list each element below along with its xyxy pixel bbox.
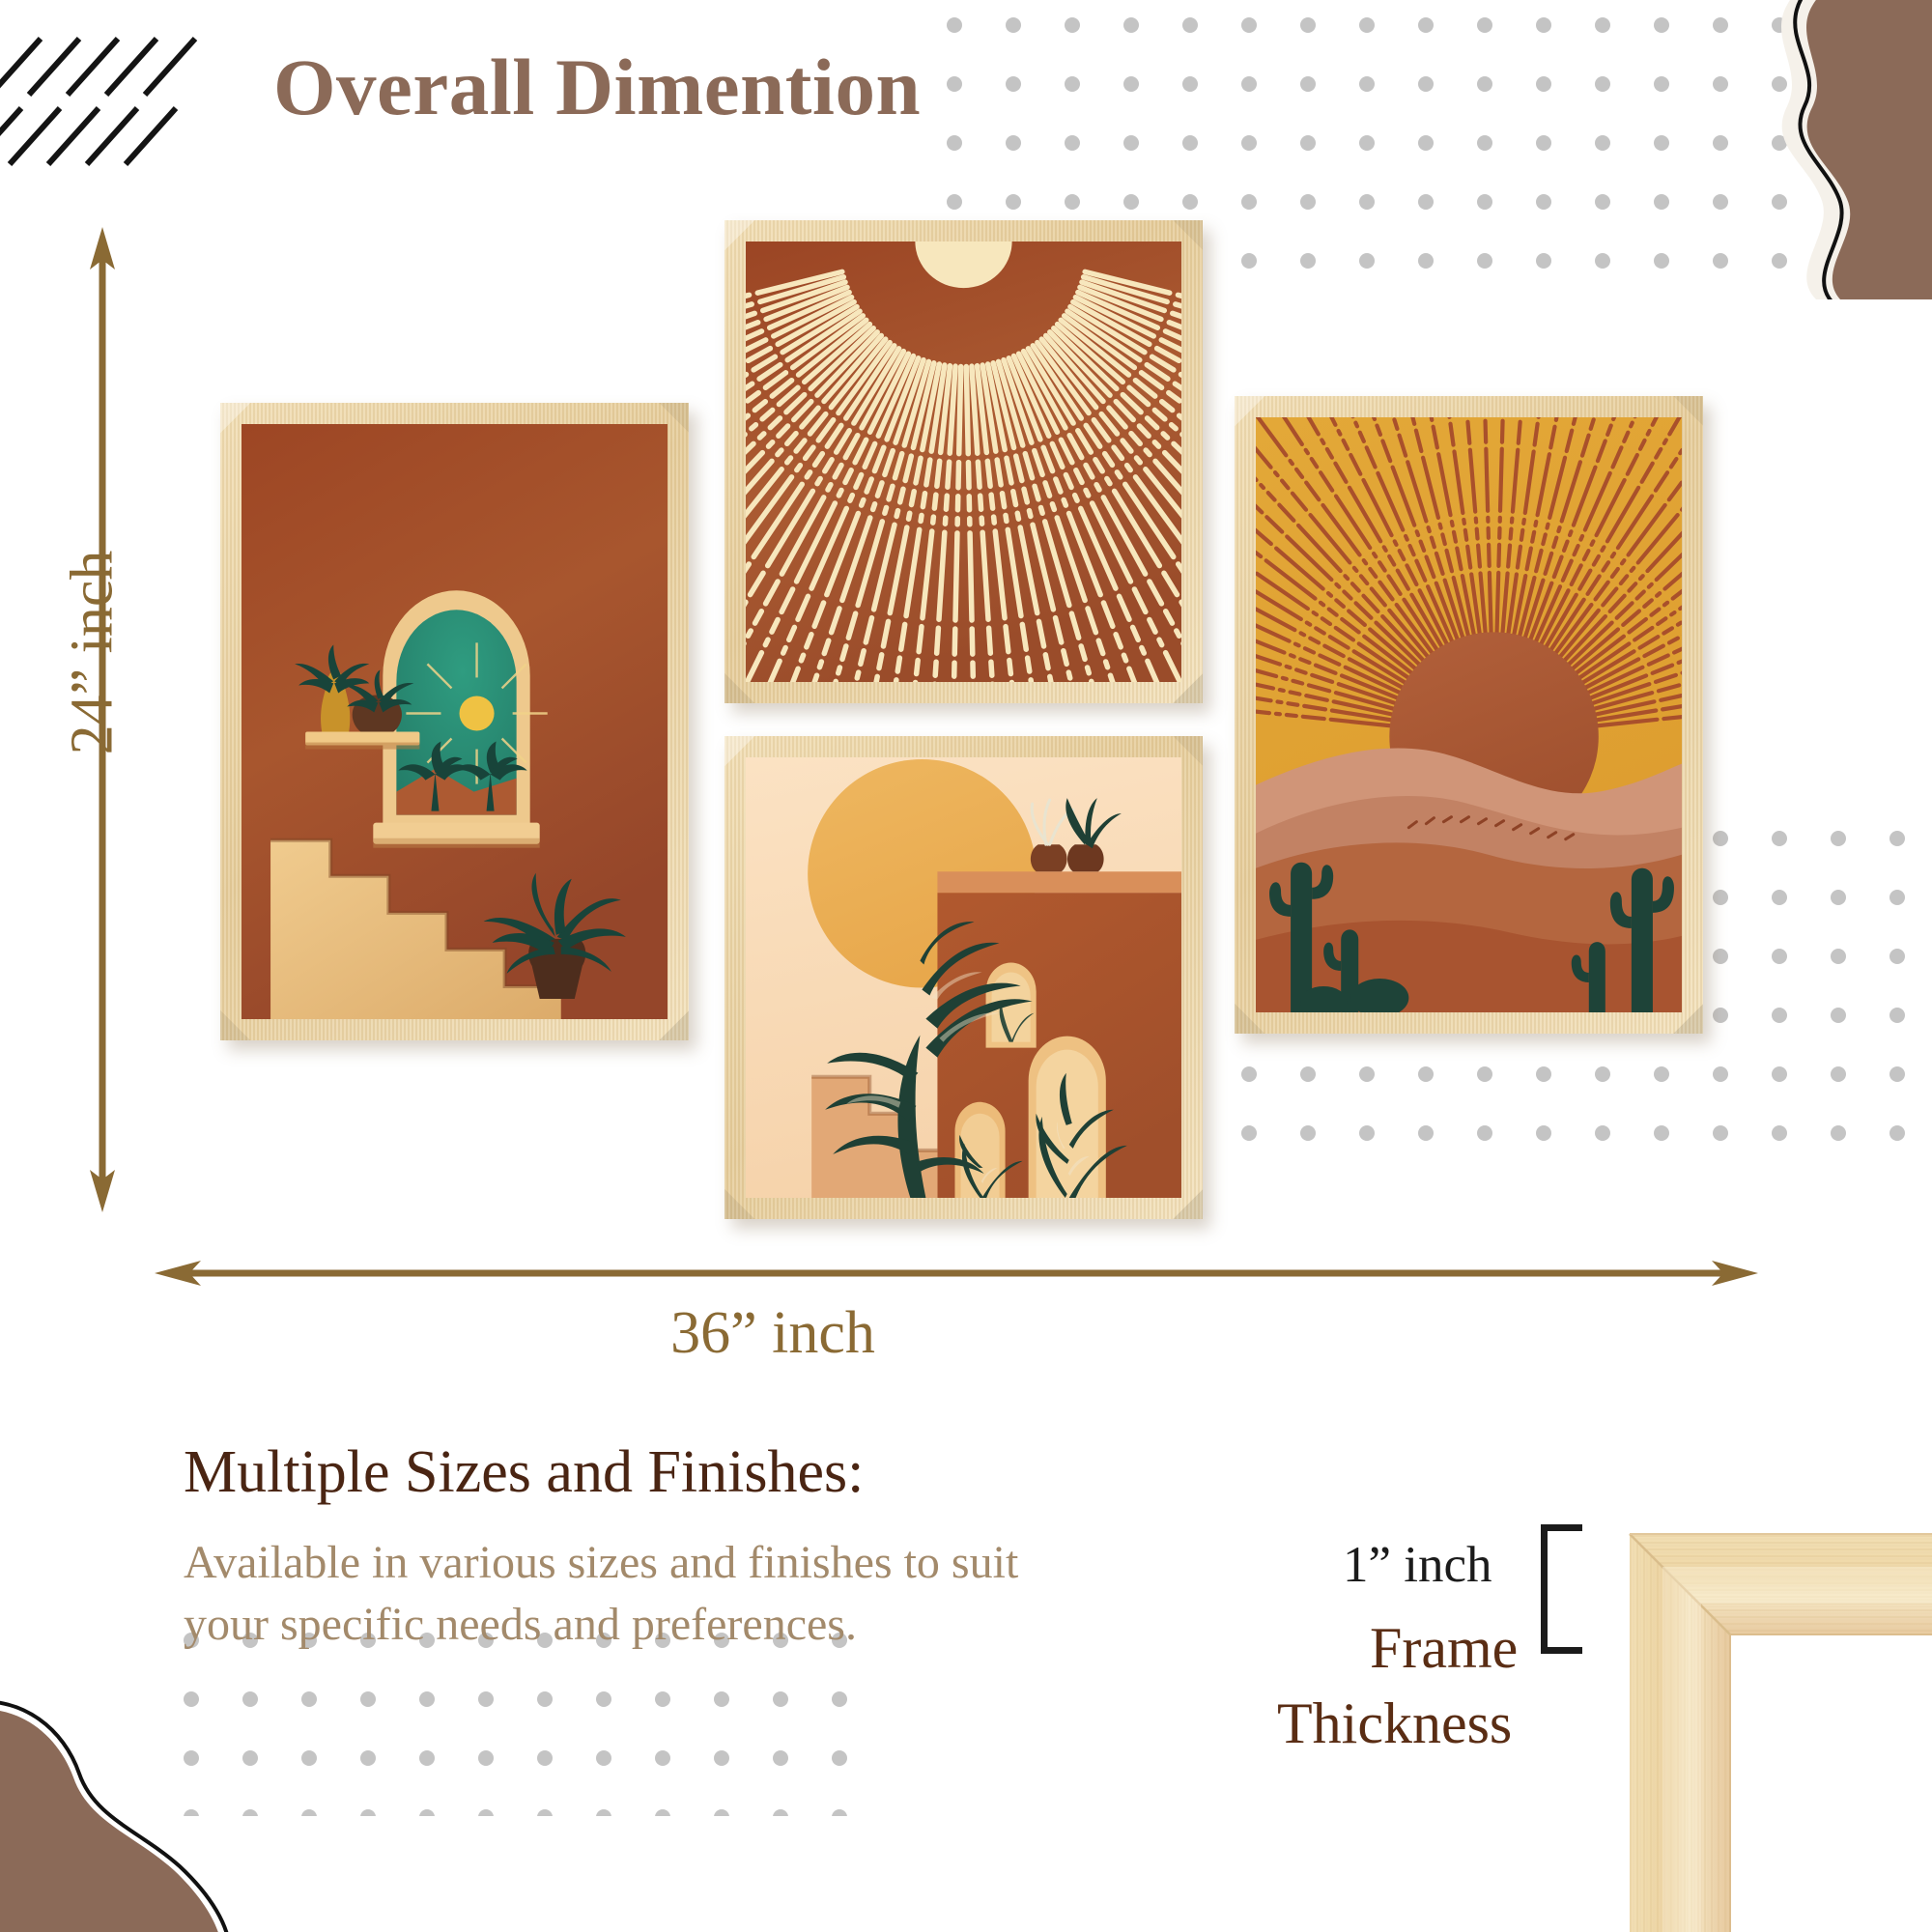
artwork-right-desert (1256, 417, 1682, 1012)
framed-art-left-arch-window[interactable] (220, 403, 689, 1040)
corner-blob-top-right (1642, 0, 1932, 299)
thickness-label-frame: Frame (1370, 1615, 1518, 1682)
corner-blob-bottom-left (0, 1681, 299, 1932)
diagonal-hatch-decoration (0, 29, 222, 164)
art-mat (746, 757, 1181, 1198)
art-mat (1256, 417, 1682, 1012)
frame-corner-sample (1608, 1507, 1932, 1932)
thickness-value-label: 1” inch (1343, 1536, 1492, 1594)
artwork-left-arch-window (241, 424, 668, 1019)
artwork-bottom-arches (746, 757, 1181, 1198)
width-dimension-label: 36” inch (618, 1299, 927, 1368)
framed-art-top-sunburst[interactable] (724, 220, 1203, 703)
height-dimension-label: 24” inch (59, 518, 128, 788)
features-heading: Multiple Sizes and Finishes: (184, 1438, 864, 1507)
artwork-top-sunburst (746, 241, 1181, 682)
art-mat (241, 424, 668, 1019)
art-mat (746, 241, 1181, 682)
thickness-label-thickness: Thickness (1277, 1690, 1512, 1757)
features-body: Available in various sizes and finishes … (184, 1532, 1236, 1657)
framed-art-right-desert[interactable] (1235, 396, 1703, 1034)
framed-art-bottom-arches[interactable] (724, 736, 1203, 1219)
thickness-bracket-icon (1541, 1524, 1582, 1654)
page-title: Overall Dimention (273, 41, 921, 133)
infographic-canvas: Overall Dimention 24” inch 36” inch (0, 0, 1932, 1932)
horizontal-dimension-arrow (155, 1256, 1758, 1291)
features-body-line2: your specific needs and preferences. (184, 1594, 1236, 1656)
features-body-line1: Available in various sizes and finishes … (184, 1532, 1236, 1594)
